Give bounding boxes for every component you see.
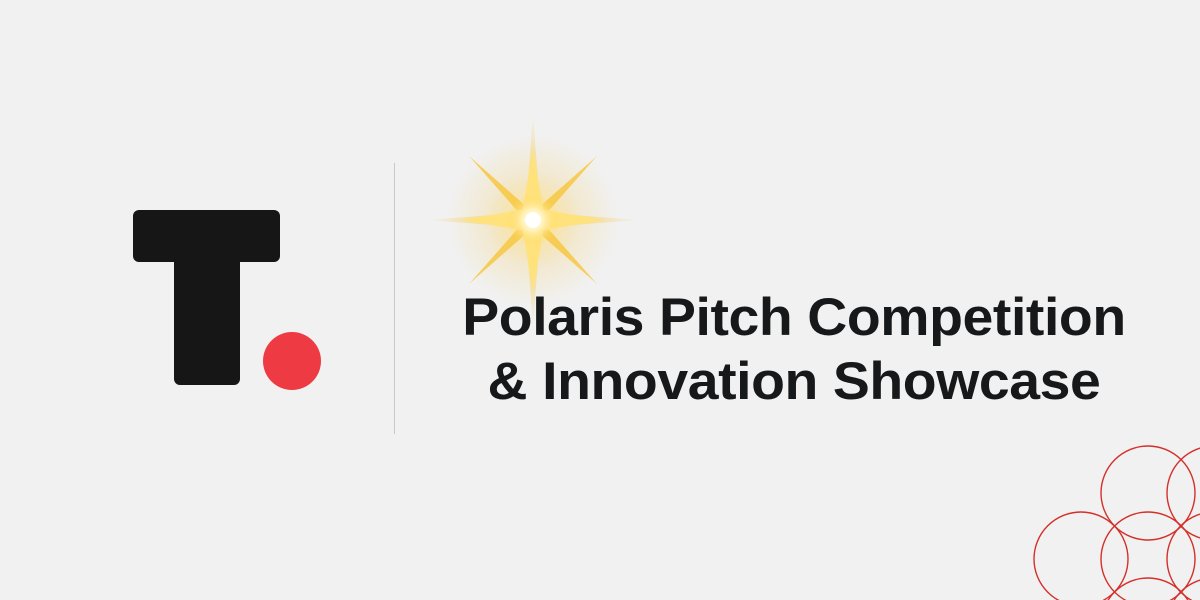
logo-t-stem xyxy=(174,250,240,385)
logo-red-dot xyxy=(263,332,321,390)
pattern-circle xyxy=(1167,446,1200,540)
pattern-circle xyxy=(1167,578,1200,600)
title-line-1: Polaris Pitch Competition xyxy=(384,286,1200,350)
pattern-circle xyxy=(1101,578,1195,600)
event-banner: Polaris Pitch Competition & Innovation S… xyxy=(0,0,1200,600)
title-line-2: & Innovation Showcase xyxy=(384,350,1200,414)
logo-t-joint xyxy=(174,245,240,269)
pattern-circle xyxy=(1167,512,1200,600)
brand-logo xyxy=(130,205,330,390)
overlapping-circles-pattern xyxy=(1000,400,1200,600)
pattern-circle xyxy=(1101,446,1195,540)
pattern-circle xyxy=(1034,512,1128,600)
page-title: Polaris Pitch Competition & Innovation S… xyxy=(402,286,1186,414)
pattern-circle xyxy=(1101,512,1195,600)
